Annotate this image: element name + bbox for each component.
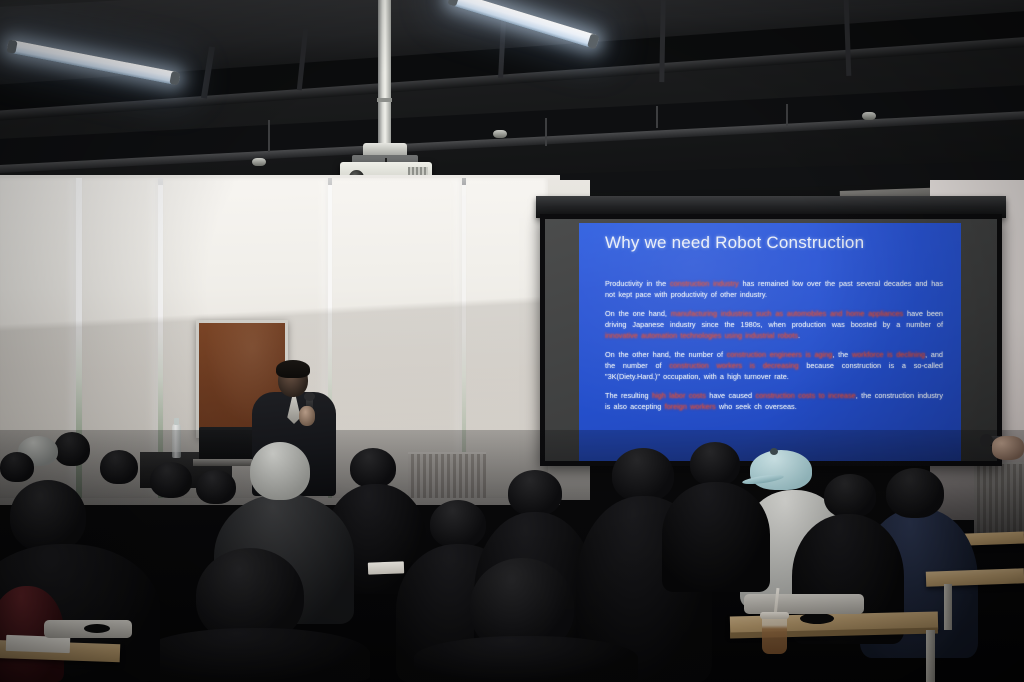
- smoke-detector-icon: [493, 130, 507, 138]
- lecture-room-scene: Why we need Robot Construction Productiv…: [0, 0, 1024, 682]
- smoke-detector-icon: [252, 158, 266, 166]
- slide-highlight: innovative automation technologies using…: [605, 331, 798, 340]
- slide-text: Productivity in the: [605, 279, 670, 288]
- audience-head: [690, 442, 740, 486]
- slide-text: The resulting: [605, 391, 652, 400]
- slide-highlight: construction workers is decreasing: [669, 361, 798, 370]
- audience-head: [824, 474, 876, 518]
- projection-screen: Why we need Robot Construction Productiv…: [540, 214, 1002, 466]
- slide-body: Productivity in the construction industr…: [605, 278, 943, 420]
- chair-back: [744, 594, 864, 614]
- slide-highlight: high labor costs: [652, 391, 706, 400]
- audience-head: [54, 432, 90, 466]
- audience-head: [150, 462, 192, 498]
- presentation-slide: Why we need Robot Construction Productiv…: [579, 223, 961, 461]
- slide-paragraph-2: On the one hand, manufacturing industrie…: [605, 308, 943, 341]
- audience-head: [100, 450, 138, 484]
- slide-text: .: [798, 331, 800, 340]
- slide-paragraph-1: Productivity in the construction industr…: [605, 278, 943, 300]
- audience-body: [662, 482, 770, 592]
- audience-head: [350, 448, 396, 488]
- slide-title: Why we need Robot Construction: [605, 233, 864, 253]
- slide-text: On the other hand, the number of: [605, 350, 727, 359]
- paper-sheet: [368, 561, 404, 574]
- smoke-detector-icon: [862, 112, 876, 120]
- desk-cable-hole: [84, 624, 110, 633]
- light-blue-cap: [750, 450, 812, 490]
- audience-head: [0, 452, 34, 482]
- desk-leg: [944, 584, 952, 630]
- audience-head: [196, 470, 236, 504]
- slide-highlight: construction engineers is aging: [727, 350, 833, 359]
- slide-text: have caused: [706, 391, 756, 400]
- audience-head: [430, 500, 486, 548]
- desk-leg: [926, 630, 935, 682]
- slide-text: overseas.: [762, 402, 797, 411]
- slide-paragraph-3: On the other hand, the number of constru…: [605, 349, 943, 382]
- slide-text: , the: [832, 350, 852, 359]
- slide-text: who seek ch: [716, 402, 762, 411]
- slide-highlight: foreign workers: [665, 402, 716, 411]
- slide-paragraph-4: The resulting high labor costs have caus…: [605, 390, 943, 412]
- audience-head: [612, 448, 674, 502]
- slide-text: On the one hand,: [605, 309, 671, 318]
- slide-highlight: workforce is declining: [852, 350, 925, 359]
- desk-cable-hole: [800, 613, 834, 624]
- slide-highlight: construction industry: [670, 279, 739, 288]
- slide-highlight: construction costs to increase: [755, 391, 855, 400]
- slide-highlight: manufacturing industries such as automob…: [671, 309, 903, 318]
- audience-head: [508, 470, 562, 516]
